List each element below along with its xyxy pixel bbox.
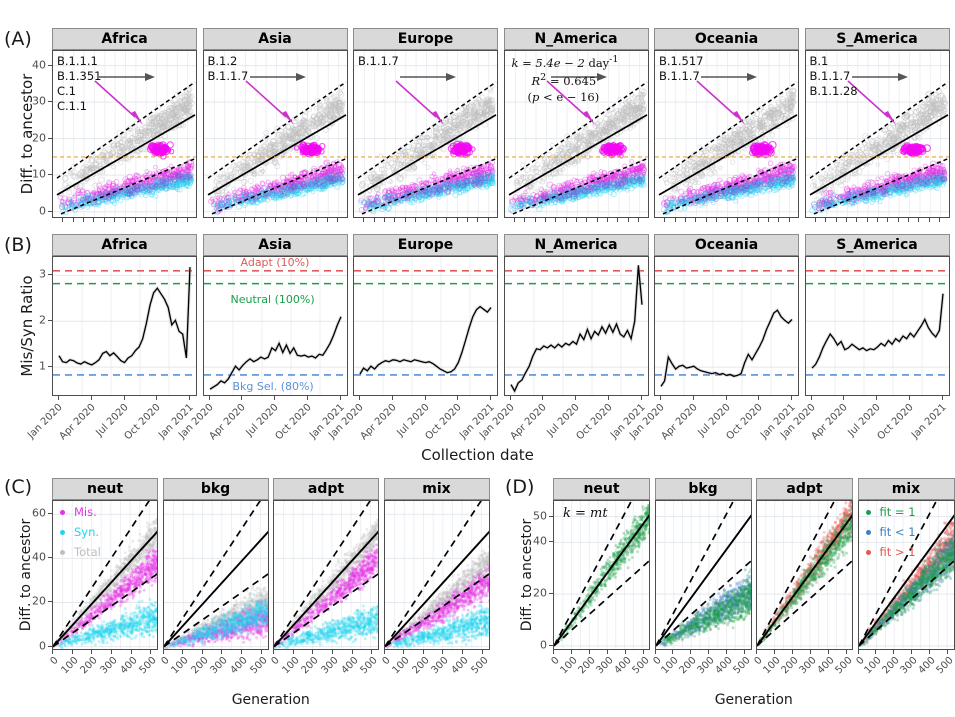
panel-b-reference-label-0: Adapt (10%) [241,256,310,269]
panel-a-facet-strip-asia: Asia [203,28,348,50]
panel-c-xtickmark [332,650,333,654]
panel-b-xtickmark [392,396,393,400]
panel-a-xtickmark [566,218,567,222]
panel-d-ylabel: Diff. to ancestor [519,500,535,650]
panel-a-xtickmark [727,218,728,222]
panel-a-xtickmark [457,218,458,222]
panel-a-plot-europe [353,50,498,218]
panel-a-xtickmark [306,218,307,222]
panel-a-xtickmark [73,218,74,222]
panel-a-equation-p: (p < e − 16) [528,90,600,104]
panel-c-plot-bkg [163,500,269,650]
panel-a-variant-label: B.1.1.28 [810,84,858,98]
panel-c-plot-adpt [273,500,379,650]
panel-b-facet-strip-s_america: S_America [805,234,950,256]
panel-a-xtickmark [415,218,416,222]
panel-a-xtickmark [223,218,224,222]
panel-b-ytick: 2 [20,314,46,327]
panel-a-xtickmark [275,218,276,222]
panel-d-xtickmark [810,650,811,654]
panel-c-ylabel: Diff. to ancestor [18,500,34,650]
panel-b-facet-strip-n_america: N_America [504,234,649,256]
panel-d-xtickmark [744,650,745,654]
panel-a-xtickmark [856,218,857,222]
panel-c-facet-strip-neut: neut [52,478,158,500]
panel-a-xtickmark [363,218,364,222]
panel-a-xtickmark [675,218,676,222]
panel-b-xtickmark [575,396,576,400]
panel-a-xtickmark [535,218,536,222]
panel-a-ytick: 10 [20,168,46,181]
panel-b-ytick: 3 [20,268,46,281]
panel-a-xtickmark [617,218,618,222]
panel-d-xtickmark [625,650,626,654]
panel-b-xtickmark [156,396,157,400]
panel-a-xtickmark [244,218,245,222]
panel-b-ytick: 1 [20,360,46,373]
panel-a-facet-strip-oceania: Oceania [654,28,799,50]
panel-c-ytick: 60 [20,507,46,520]
panel-c-plot-mix [384,500,490,650]
panel-b-xtickmark [490,396,491,400]
panel-c-xtickmark [111,650,112,654]
panel-d-ytick: 20 [521,587,547,600]
panel-a-xtickmark [254,218,255,222]
panel-c-xtickmark [371,650,372,654]
panel-b-reference-label-1: Neutral (100%) [231,293,315,306]
panel-b-xtickmark [91,396,92,400]
panel-d-xtickmark [947,650,948,654]
panel-c-plot-neut [52,500,158,650]
panel-a-equation-r2: R2 = 0.645 [532,72,597,88]
panel-a-xtickmark [125,218,126,222]
panel-c-legend-label-0: Mis. [74,505,97,519]
panel-c-legend-dot-2 [60,550,65,555]
panel-d-xtickmark [643,650,644,654]
panel-a-xtickmark [156,218,157,222]
panel-d-xtickmark [690,650,691,654]
panel-c-xtickmark [352,650,353,654]
panel-a-xtickmark [706,218,707,222]
panel-d-facet-strip-bkg: bkg [655,478,752,500]
panel-a-variant-label: B.1.1.7 [659,69,700,83]
panel-a-xtickmark [887,218,888,222]
panel-b-facet-strip-oceania: Oceania [654,234,799,256]
panel-b-plot-asia [203,256,348,396]
panel-c-xtickmark [261,650,262,654]
panel-a-xtickmark [467,218,468,222]
panel-b-xtickmark [641,396,642,400]
panel-a-xtickmark [939,218,940,222]
panel-c-xtickmark [163,650,164,654]
panel-a-xtickmark [374,218,375,222]
panel-a-xtickmark [62,218,63,222]
panel-a-xtickmark [628,218,629,222]
panel-a-xtickmark [586,218,587,222]
panel-b-plot-s_america [805,256,950,396]
panel-b-xtickmark [359,396,360,400]
panel-a-variant-label: B.1.2 [208,54,238,68]
panel-a-xtickmark [176,218,177,222]
panel-b-xtickmark [608,396,609,400]
panel-c-ytick: 40 [20,551,46,564]
panel-a-variant-label: B.1.1.7 [208,69,249,83]
panel-b-xtickmark [425,396,426,400]
panel-d-xtickmark [929,650,930,654]
panel-a-xtickmark [778,218,779,222]
panel-b-xtickmark [811,396,812,400]
panel-a-xtickmark [234,218,235,222]
panel-c-legend-dot-1 [60,530,65,535]
panel-d-xtickmark [893,650,894,654]
panel-a-variant-label: B.1.1.1 [57,54,98,68]
panel-b-xtickmark [209,396,210,400]
panel-d-xtickmark [553,650,554,654]
panel-c-xtickmark [52,650,53,654]
panel-a-xtickmark [187,218,188,222]
panel-d-xtickmark [672,650,673,654]
panel-a-variant-label: B.1 [810,54,829,68]
panel-b-facet-strip-africa: Africa [52,234,197,256]
panel-a-xtickmark [555,218,556,222]
panel-c-legend-dot-0 [60,510,65,515]
panel-b-xtickmark [909,396,910,400]
panel-c-xtickmark [403,650,404,654]
panel-b-plot-oceania [654,256,799,396]
panel-a-variant-label: C.1 [57,84,76,98]
panel-d-plot-bkg [655,500,752,650]
panel-a-xtickmark [695,218,696,222]
panel-b-xtickmark [942,396,943,400]
panel-a-xtickmark [716,218,717,222]
panel-b-facet-strip-europe: Europe [353,234,498,256]
panel-c-facet-strip-adpt: adpt [273,478,379,500]
panel-c-xtickmark [150,650,151,654]
panel-a-xtickmark [446,218,447,222]
panel-a-xtickmark [93,218,94,222]
panel-d-xtickmark [792,650,793,654]
panel-c-xtickmark [442,650,443,654]
figure-root: (A)Diff. to ancestor010203040AfricaB.1.1… [0,0,955,717]
panel-a-variant-label: B.1.351 [57,69,101,83]
panel-d-ytick: 50 [521,509,547,522]
panel-d-xtickmark [846,650,847,654]
panel-a-variant-label: B.1.517 [659,54,703,68]
panel-a-variant-label: B.1.1.7 [810,69,851,83]
panel-a-xtickmark [337,218,338,222]
panel-d-ytick: 40 [521,535,547,548]
panel-a-xtickmark [285,218,286,222]
panel-a-facet-strip-africa: Africa [52,28,197,50]
panel-d-legend-dot-1 [866,530,871,535]
panel-d-legend-dot-0 [866,510,871,515]
panel-b-xtickmark [758,396,759,400]
panel-b-xtickmark [58,396,59,400]
panel-a-xtickmark [436,218,437,222]
panel-d-xtickmark [655,650,656,654]
panel-a-xtickmark [545,218,546,222]
panel-b-xtickmark [274,396,275,400]
panel-b-xtickmark [510,396,511,400]
panel-d-xtickmark [708,650,709,654]
panel-a-xtickmark [825,218,826,222]
panel-a-xtickmark [898,218,899,222]
panel-c-xtickmark [482,650,483,654]
panel-d-plot-neut [553,500,650,650]
panel-c-legend-label-2: Total [74,545,101,559]
panel-d-xtickmark [858,650,859,654]
panel-a-xtickmark [918,218,919,222]
panel-a-xtickmark [265,218,266,222]
panel-a-xtickmark [114,218,115,222]
panel-b-plot-europe [353,256,498,396]
panel-d-xtickmark [875,650,876,654]
panel-a-xtickmark [836,218,837,222]
panel-d-facet-strip-neut: neut [553,478,650,500]
panel-a-ytick: 0 [20,204,46,217]
panel-d-legend-label-0: fit = 1 [880,505,916,519]
panel-a-xtickmark [316,218,317,222]
panel-b-facet-strip-asia: Asia [203,234,348,256]
panel-a-xtickmark [597,218,598,222]
panel-c-xtickmark [91,650,92,654]
panel-a-letter: (A) [4,28,32,50]
panel-b-xtickmark [660,396,661,400]
panel-b-xtickmark [340,396,341,400]
panel-d-xtickmark [726,650,727,654]
panel-c-xtickmark [182,650,183,654]
panel-d-legend-dot-2 [866,550,871,555]
panel-d-annotation: k = mt [563,506,608,521]
panel-a-xtickmark [405,218,406,222]
panel-d-xtickmark [589,650,590,654]
panel-d-legend-label-1: fit < 1 [880,525,916,539]
panel-d-facet-strip-mix: mix [858,478,955,500]
panel-a-xtickmark [789,218,790,222]
panel-d-legend-label-2: fit > 1 [880,545,916,559]
panel-c-legend-label-1: Syn. [74,525,99,539]
panel-a-facet-strip-s_america: S_America [805,28,950,50]
panel-a-xtickmark [524,218,525,222]
panel-c-letter: (C) [4,476,32,498]
panel-a-xtickmark [908,218,909,222]
panel-c-facet-strip-bkg: bkg [163,478,269,500]
panel-d-xtickmark [828,650,829,654]
panel-a-xtickmark [768,218,769,222]
panel-a-xtickmark [135,218,136,222]
panel-d-plot-adpt [756,500,853,650]
panel-d-xlabel: Generation [553,692,955,708]
panel-a-xtickmark [166,218,167,222]
panel-a-variant-label: B.1.1.7 [358,54,399,68]
panel-c-xtickmark [423,650,424,654]
panel-a-xtickmark [846,218,847,222]
panel-a-xtickmark [815,218,816,222]
panel-c-xtickmark [462,650,463,654]
panel-d-facet-strip-adpt: adpt [756,478,853,500]
panel-a-ytick: 20 [20,131,46,144]
panel-c-xtickmark [273,650,274,654]
panel-c-xtickmark [131,650,132,654]
panel-b-plot-africa [52,256,197,396]
panel-a-facet-strip-europe: Europe [353,28,498,50]
panel-b-xtickmark [457,396,458,400]
panel-d-xtickmark [774,650,775,654]
panel-b-xlabel: Collection date [0,446,955,464]
panel-d-xtickmark [571,650,572,654]
panel-a-xtickmark [737,218,738,222]
panel-d-xtickmark [756,650,757,654]
panel-a-xtickmark [477,218,478,222]
panel-a-xtickmark [929,218,930,222]
panel-a-xtickmark [758,218,759,222]
panel-b-xtickmark [791,396,792,400]
panel-b-xtickmark [124,396,125,400]
panel-b-xtickmark [542,396,543,400]
panel-c-ytick: 0 [20,639,46,652]
panel-a-xtickmark [514,218,515,222]
panel-a-xtickmark [747,218,748,222]
panel-d-xtickmark [607,650,608,654]
panel-c-xtickmark [312,650,313,654]
panel-a-xtickmark [296,218,297,222]
panel-a-xtickmark [867,218,868,222]
panel-c-xlabel: Generation [52,692,490,708]
panel-a-xtickmark [488,218,489,222]
panel-a-xtickmark [664,218,665,222]
panel-b-xtickmark [843,396,844,400]
panel-a-ytick: 30 [20,95,46,108]
panel-c-xtickmark [241,650,242,654]
panel-c-ytick: 20 [20,595,46,608]
panel-a-xtickmark [426,218,427,222]
panel-c-xtickmark [384,650,385,654]
panel-a-xtickmark [607,218,608,222]
panel-a-xtickmark [576,218,577,222]
panel-a-ytick: 40 [20,58,46,71]
panel-a-xtickmark [638,218,639,222]
panel-a-xtickmark [384,218,385,222]
panel-b-xtickmark [241,396,242,400]
panel-a-variant-label: C.1.1 [57,99,87,113]
panel-b-reference-label-2: Bkg Sel. (80%) [233,380,314,393]
panel-a-xtickmark [394,218,395,222]
panel-c-xtickmark [202,650,203,654]
panel-b-xtickmark [876,396,877,400]
panel-a-equation-k: k = 5.4e − 2 day-1 [512,54,619,70]
panel-a-xtickmark [327,218,328,222]
panel-b-xtickmark [693,396,694,400]
panel-a-facet-strip-n_america: N_America [504,28,649,50]
panel-c-xtickmark [72,650,73,654]
panel-a-xtickmark [104,218,105,222]
panel-a-xtickmark [877,218,878,222]
panel-a-xtickmark [685,218,686,222]
panel-a-xtickmark [83,218,84,222]
panel-b-xtickmark [726,396,727,400]
panel-d-ytick: 0 [521,638,547,651]
panel-c-facet-strip-mix: mix [384,478,490,500]
panel-b-letter: (B) [4,234,32,256]
panel-a-xtickmark [145,218,146,222]
panel-b-plot-n_america [504,256,649,396]
panel-a-xtickmark [213,218,214,222]
panel-d-xtickmark [911,650,912,654]
panel-c-xtickmark [293,650,294,654]
panel-b-xtickmark [307,396,308,400]
panel-c-xtickmark [221,650,222,654]
panel-d-letter: (D) [505,476,534,498]
panel-b-xtickmark [189,396,190,400]
panel-d-plot-mix [858,500,955,650]
